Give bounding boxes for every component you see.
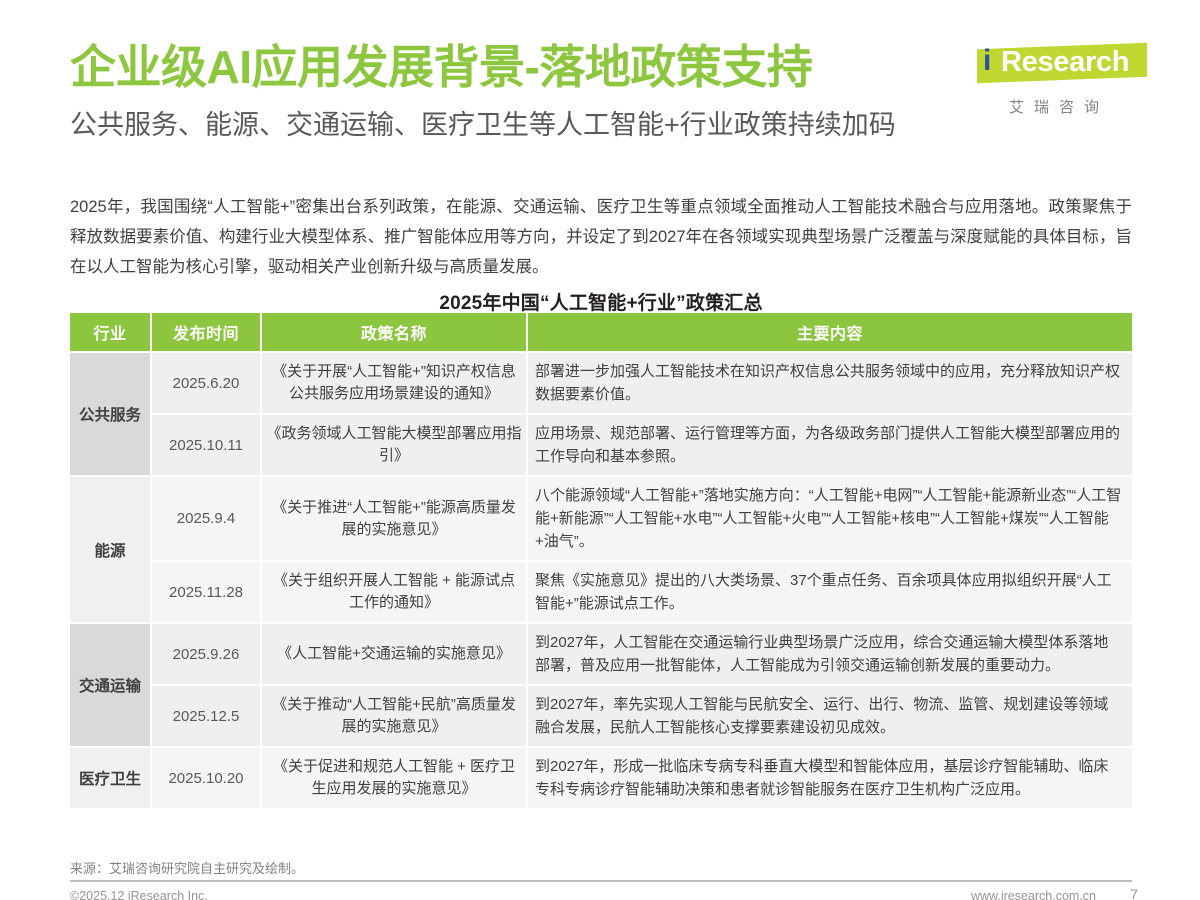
table-header-row: 行业 发布时间 政策名称 主要内容 — [70, 313, 1132, 353]
cell-release-date: 2025.10.20 — [152, 748, 262, 810]
col-header-main-content: 主要内容 — [528, 313, 1132, 353]
cell-main-content: 聚焦《实施意见》提出的八大类场景、37个重点任务、百余项具体应用拟组织开展“人工… — [528, 562, 1132, 624]
table-row: 2025.11.28《关于组织开展人工智能 + 能源试点工作的通知》聚焦《实施意… — [70, 562, 1132, 624]
cell-release-date: 2025.11.28 — [152, 562, 262, 624]
cell-release-date: 2025.12.5 — [152, 686, 262, 748]
source-note: 来源：艾瑞咨询研究院自主研究及绘制。 — [70, 858, 304, 877]
logo-mark: i Research — [961, 42, 1147, 84]
cell-release-date: 2025.9.4 — [152, 477, 262, 562]
table-row: 2025.12.5《关于推动“人工智能+民航”高质量发展的实施意见》到2027年… — [70, 686, 1132, 748]
cell-main-content: 到2027年，形成一批临床专病专科垂直大模型和智能体应用，基层诊疗智能辅助、临床… — [528, 748, 1132, 810]
logo-chinese-name: 艾瑞咨询 — [954, 96, 1154, 117]
policy-table: 行业 发布时间 政策名称 主要内容 公共服务2025.6.20《关于开展“人工智… — [70, 313, 1132, 810]
footer-divider — [70, 880, 1132, 882]
cell-industry: 能源 — [70, 477, 152, 624]
cell-industry: 公共服务 — [70, 353, 152, 477]
cell-policy-name: 《关于开展“人工智能+”知识产权信息公共服务应用场景建设的通知》 — [262, 353, 528, 415]
table-row: 交通运输2025.9.26《人工智能+交通运输的实施意见》到2027年，人工智能… — [70, 624, 1132, 686]
cell-policy-name: 《人工智能+交通运输的实施意见》 — [262, 624, 528, 686]
table-row: 医疗卫生2025.10.20《关于促进和规范人工智能 + 医疗卫生应用发展的实施… — [70, 748, 1132, 810]
table-row: 能源2025.9.4《关于推进“人工智能+”能源高质量发展的实施意见》八个能源领… — [70, 477, 1132, 562]
page-number: 7 — [1130, 886, 1138, 900]
cell-policy-name: 《关于促进和规范人工智能 + 医疗卫生应用发展的实施意见》 — [262, 748, 528, 810]
footer-copyright: ©2025.12 iResearch Inc. — [70, 889, 208, 900]
cell-release-date: 2025.10.11 — [152, 415, 262, 477]
col-header-industry: 行业 — [70, 313, 152, 353]
cell-main-content: 八个能源领域“人工智能+”落地实施方向：“人工智能+电网”“人工智能+能源新业态… — [528, 477, 1132, 562]
iresearch-logo: i Research 艾瑞咨询 — [954, 42, 1154, 117]
cell-policy-name: 《关于组织开展人工智能 + 能源试点工作的通知》 — [262, 562, 528, 624]
cell-release-date: 2025.6.20 — [152, 353, 262, 415]
table-row: 2025.10.11《政务领域人工智能大模型部署应用指引》应用场景、规范部署、运… — [70, 415, 1132, 477]
cell-release-date: 2025.9.26 — [152, 624, 262, 686]
table-caption: 2025年中国“人工智能+行业”政策汇总 — [70, 288, 1132, 315]
table-head: 行业 发布时间 政策名称 主要内容 — [70, 313, 1132, 353]
logo-wordmark: Research — [1001, 43, 1129, 81]
footer-website: www.iresearch.com.cn — [971, 889, 1096, 900]
logo-i-letter: i — [983, 42, 991, 80]
cell-policy-name: 《关于推动“人工智能+民航”高质量发展的实施意见》 — [262, 686, 528, 748]
table-row: 公共服务2025.6.20《关于开展“人工智能+”知识产权信息公共服务应用场景建… — [70, 353, 1132, 415]
cell-industry: 交通运输 — [70, 624, 152, 748]
cell-main-content: 到2027年，率先实现人工智能与民航安全、运行、出行、物流、监管、规划建设等领域… — [528, 686, 1132, 748]
cell-main-content: 应用场景、规范部署、运行管理等方面，为各级政务部门提供人工智能大模型部署应用的工… — [528, 415, 1132, 477]
cell-main-content: 到2027年，人工智能在交通运输行业典型场景广泛应用，综合交通运输大模型体系落地… — [528, 624, 1132, 686]
cell-industry: 医疗卫生 — [70, 748, 152, 810]
col-header-policy-name: 政策名称 — [262, 313, 528, 353]
col-header-date: 发布时间 — [152, 313, 262, 353]
intro-paragraph: 2025年，我国围绕“人工智能+”密集出台系列政策，在能源、交通运输、医疗卫生等… — [70, 192, 1132, 282]
table-body: 公共服务2025.6.20《关于开展“人工智能+”知识产权信息公共服务应用场景建… — [70, 353, 1132, 810]
cell-policy-name: 《政务领域人工智能大模型部署应用指引》 — [262, 415, 528, 477]
cell-policy-name: 《关于推进“人工智能+”能源高质量发展的实施意见》 — [262, 477, 528, 562]
slide-page: 企业级AI应用发展背景-落地政策支持 公共服务、能源、交通运输、医疗卫生等人工智… — [0, 0, 1200, 900]
cell-main-content: 部署进一步加强人工智能技术在知识产权信息公共服务领域中的应用，充分释放知识产权数… — [528, 353, 1132, 415]
